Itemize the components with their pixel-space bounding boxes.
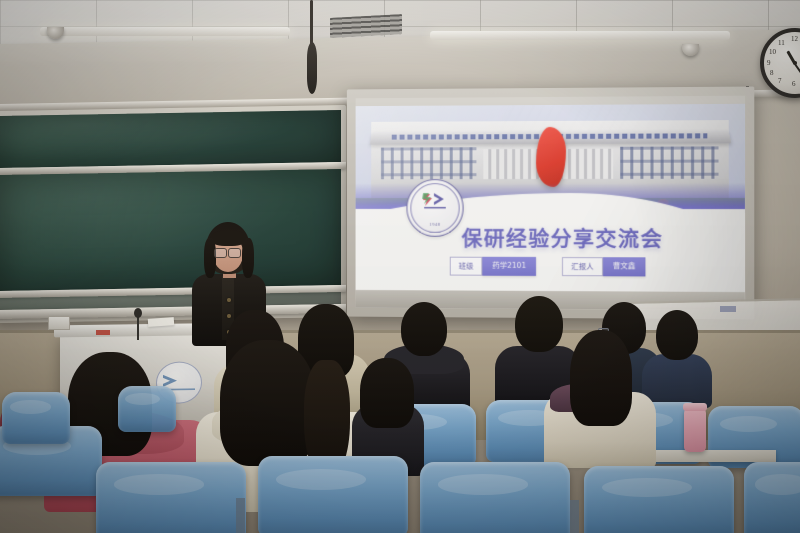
presenter-glasses-icon bbox=[214, 248, 227, 258]
seat-divider bbox=[570, 500, 579, 533]
chalkboard-panel-main bbox=[0, 169, 341, 291]
clock-number: 11 bbox=[778, 39, 785, 47]
clock-number: 7 bbox=[778, 77, 782, 85]
ceiling-light-right bbox=[430, 31, 730, 40]
ceiling-light-left bbox=[40, 27, 290, 36]
presenter-value: 曹文鑫 bbox=[603, 257, 646, 276]
class-value: 药学2101 bbox=[482, 257, 536, 276]
lecture-seat[interactable] bbox=[96, 462, 246, 533]
classroom-scene: 12 1 2 3 4 5 6 7 8 9 10 11 bbox=[0, 0, 800, 533]
student-cream-scarf-mid bbox=[544, 330, 656, 462]
student-head bbox=[656, 310, 698, 360]
chalk-box bbox=[48, 316, 70, 330]
slide-title: 保研经验分享交流会 bbox=[462, 223, 699, 254]
presenter-hair-side bbox=[204, 238, 216, 278]
student-hair bbox=[220, 340, 316, 466]
university-seal-logo: 1948 bbox=[406, 179, 463, 237]
student-head bbox=[401, 302, 447, 356]
chalkboard bbox=[0, 105, 346, 323]
presenter-chip: 汇报人 曹文鑫 bbox=[562, 257, 645, 276]
red-marker-tag bbox=[96, 330, 110, 335]
projection-screen[interactable]: 1948 保研经验分享交流会 班级 药学2101 汇报人 曹文鑫 bbox=[347, 87, 754, 320]
student-hair bbox=[360, 358, 414, 428]
presenter-glasses-icon bbox=[228, 248, 241, 258]
clock-number: 8 bbox=[770, 69, 774, 77]
lecture-seat[interactable] bbox=[2, 392, 70, 444]
seat-divider bbox=[236, 498, 245, 533]
lecture-seat[interactable] bbox=[744, 462, 800, 533]
thermos-cap bbox=[683, 403, 707, 411]
presenter-bangs bbox=[210, 230, 247, 246]
chalkboard-panel-top bbox=[0, 110, 341, 168]
clock-center-pin bbox=[793, 61, 797, 65]
presenter-label: 汇报人 bbox=[562, 257, 603, 276]
student-far-right-dark bbox=[352, 358, 424, 468]
clock-number: 12 bbox=[791, 35, 798, 43]
seal-year: 1948 bbox=[407, 222, 462, 227]
clock-number: 9 bbox=[767, 59, 771, 67]
class-chip: 班级 药学2101 bbox=[450, 257, 536, 276]
student-hair bbox=[570, 330, 632, 426]
ceiling-vent-icon bbox=[330, 14, 402, 38]
presentation-slide: 1948 保研经验分享交流会 班级 药学2101 汇报人 曹文鑫 bbox=[356, 104, 745, 302]
ceiling-hook-icon bbox=[307, 0, 317, 92]
screen-surface: 1948 保研经验分享交流会 班级 药学2101 汇报人 曹文鑫 bbox=[356, 96, 745, 311]
lecture-seat[interactable] bbox=[118, 386, 176, 432]
clock-number: 10 bbox=[769, 48, 776, 56]
whiteboard-clip-icon bbox=[720, 306, 736, 312]
microphone-icon bbox=[136, 308, 140, 338]
presenter-button bbox=[227, 298, 231, 302]
thermos-bottle[interactable] bbox=[684, 408, 706, 452]
lecture-seat[interactable] bbox=[258, 456, 408, 533]
lecture-seat[interactable] bbox=[584, 466, 734, 533]
clock-number: 6 bbox=[792, 80, 796, 88]
class-label: 班级 bbox=[450, 257, 483, 276]
slide-meta-row: 班级 药学2101 汇报人 曹文鑫 bbox=[450, 257, 711, 277]
lecture-seat[interactable] bbox=[420, 462, 570, 533]
presenter-hair-side bbox=[242, 238, 254, 278]
seal-emblem-icon bbox=[422, 192, 448, 210]
